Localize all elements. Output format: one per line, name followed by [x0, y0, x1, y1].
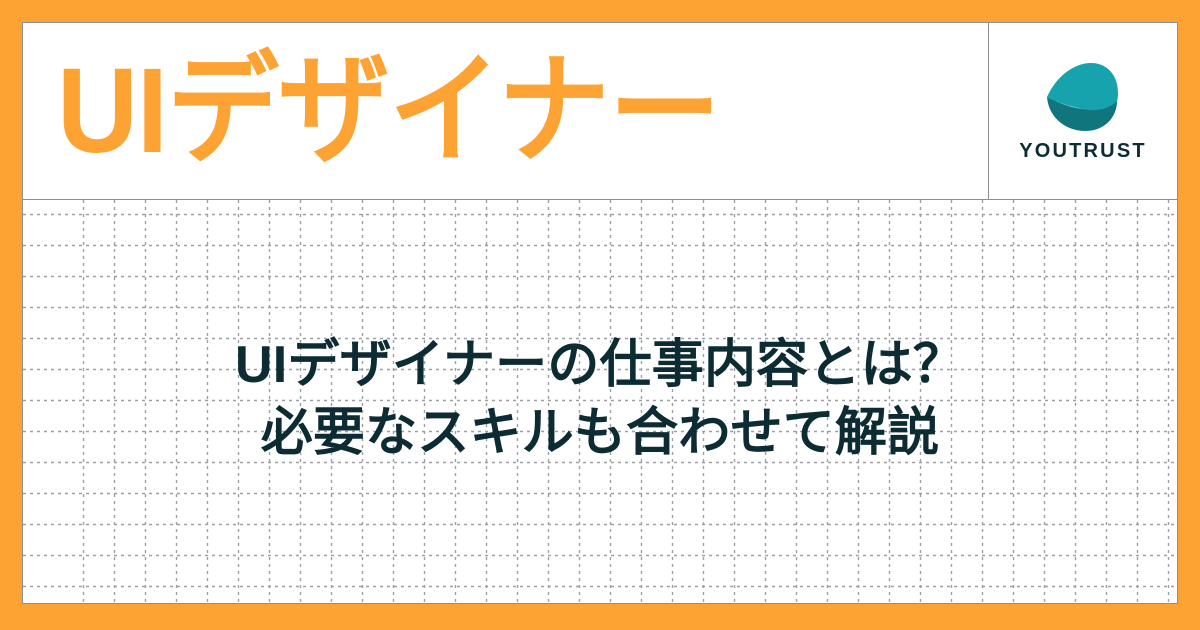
headline-line-2: 必要なスキルも合わせて解説	[235, 400, 965, 468]
header-title-cell: UIデザイナー	[23, 23, 988, 199]
page-title: UIデザイナー	[57, 51, 720, 172]
content-panel: UIデザイナー YOUTRUST UIデザイナーの仕事内容とは？ 必要なスキルも…	[22, 22, 1178, 604]
ogp-card: UIデザイナー YOUTRUST UIデザイナーの仕事内容とは？ 必要なスキルも…	[0, 0, 1200, 630]
card-header: UIデザイナー YOUTRUST	[23, 23, 1177, 200]
brand-wordmark: YOUTRUST	[1019, 141, 1147, 161]
youtrust-leaf-logo-icon	[1039, 61, 1127, 133]
card-body: UIデザイナーの仕事内容とは？ 必要なスキルも合わせて解説	[23, 200, 1177, 603]
headline-line-1: UIデザイナーの仕事内容とは？	[235, 332, 965, 400]
brand-logo: YOUTRUST	[988, 23, 1177, 199]
headline: UIデザイナーの仕事内容とは？ 必要なスキルも合わせて解説	[235, 332, 965, 467]
